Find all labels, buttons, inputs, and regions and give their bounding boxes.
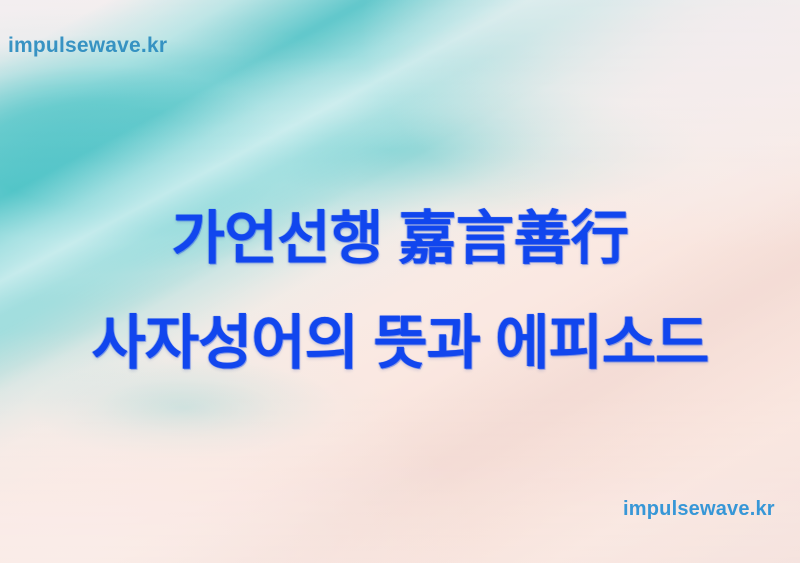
headline-block: 가언선행 嘉言善行 사자성어의 뜻과 에피소드 bbox=[0, 0, 800, 563]
headline-line-2: 사자성어의 뜻과 에피소드 bbox=[92, 313, 709, 374]
headline-line-1: 가언선행 嘉言善行 bbox=[171, 209, 628, 269]
thumbnail-canvas: impulsewave.kr impulsewave.kr 가언선행 嘉言善行 … bbox=[0, 0, 800, 563]
